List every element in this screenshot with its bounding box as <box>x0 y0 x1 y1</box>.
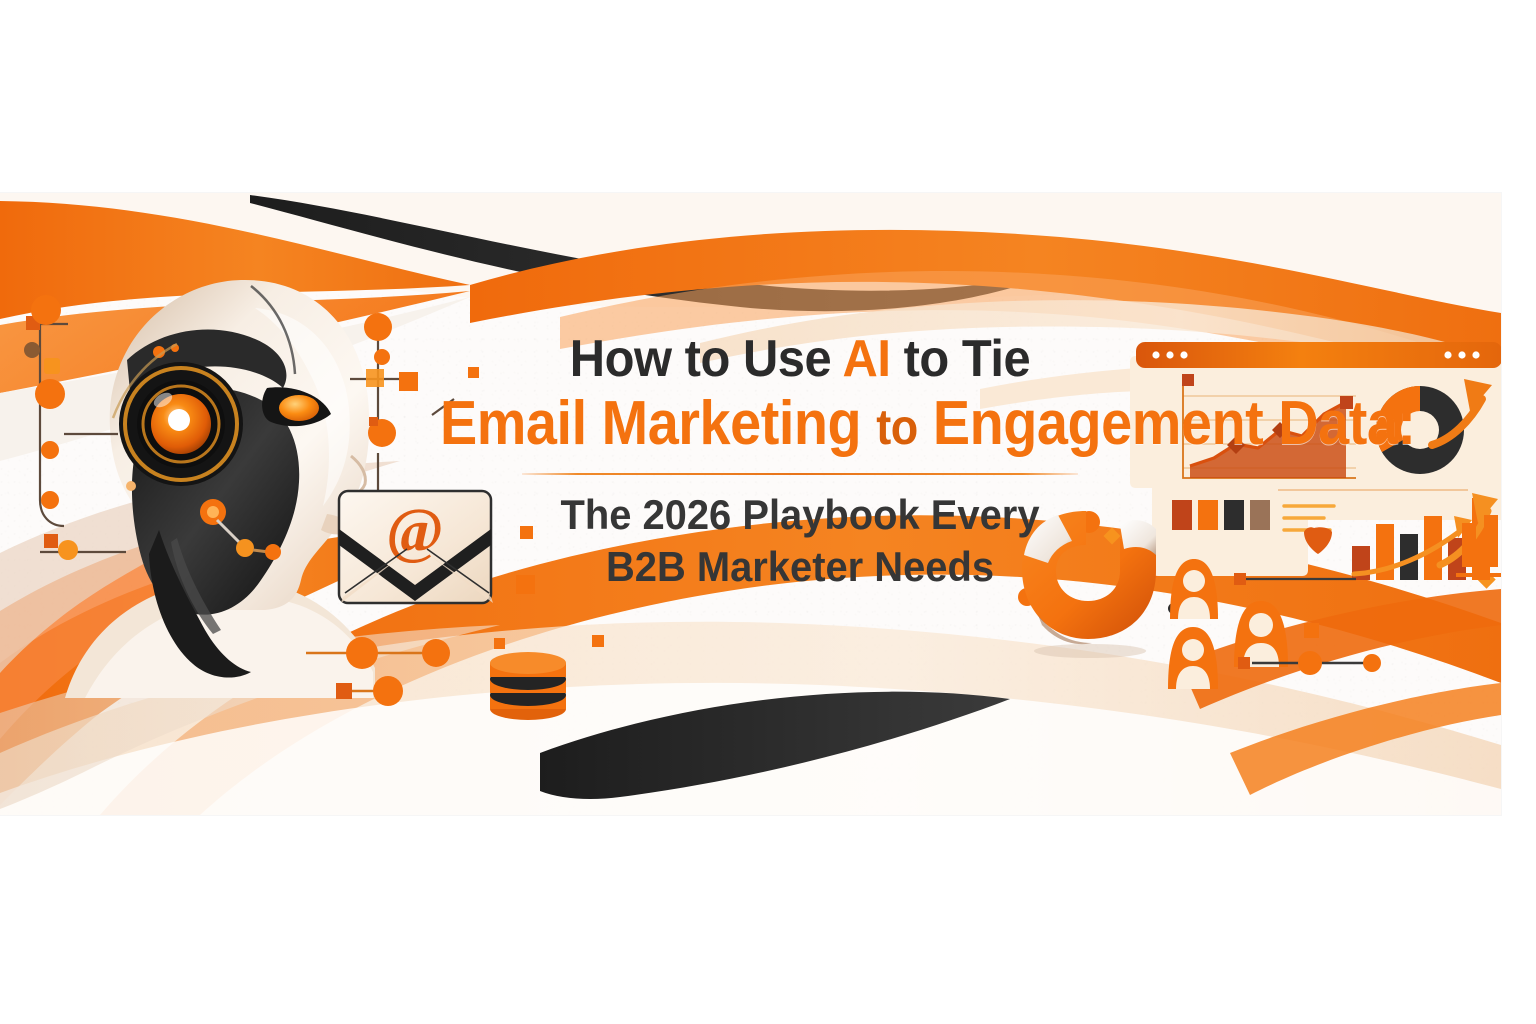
robot-port-node-3 <box>265 544 281 560</box>
robot-port-node-2 <box>236 539 254 557</box>
headline-divider <box>522 473 1078 475</box>
swatch-4 <box>1250 500 1270 530</box>
marketing-banner: @ <box>0 193 1501 815</box>
circuit-r-square-1 <box>366 369 384 387</box>
robot-lens-pupil <box>168 409 190 431</box>
circuit-node-1 <box>31 295 61 325</box>
headline2-part-2: Engagement Data: <box>918 389 1416 458</box>
subtitle-line-2: B2B Marketer Needs <box>420 541 1180 592</box>
circuit-square-3 <box>44 534 58 548</box>
swatch-2 <box>1198 500 1218 530</box>
headline-line-2: Email Marketing to Engagement Data: <box>440 392 1160 455</box>
circuit-node-network-left <box>6 288 136 588</box>
circuit-node-2 <box>24 342 40 358</box>
window-dot-right-2[interactable] <box>1458 351 1465 358</box>
window-dot-right-1[interactable] <box>1444 351 1451 358</box>
accent-square-9 <box>1304 623 1319 638</box>
headline-part-2: to Tie <box>890 330 1030 388</box>
circuit-node-5 <box>41 491 59 509</box>
accent-square-7 <box>592 635 604 647</box>
accent-dot-1 <box>374 349 390 365</box>
circuit-node-3 <box>35 379 65 409</box>
robot-port-core <box>207 506 219 518</box>
circuit-square-2 <box>44 358 60 374</box>
headline-part-1: How to Use <box>570 330 843 388</box>
headline-line-1: How to Use AI to Tie <box>424 333 1176 386</box>
banner-text-block: How to Use AI to Tie Email Marketing to … <box>400 333 1200 592</box>
screenshot-canvas: @ <box>0 0 1536 1024</box>
circuit-b-node-1 <box>346 637 378 669</box>
circuit-r-node-1 <box>364 313 392 341</box>
circuit-node-4 <box>41 441 59 459</box>
circuit-b-node-3 <box>373 676 403 706</box>
robot-eye-glow <box>279 395 319 421</box>
circuit-node-6 <box>58 540 78 560</box>
headline-accent-ai: AI <box>843 330 891 388</box>
headline2-part-1: Email Marketing <box>440 389 876 458</box>
db-top-cap <box>490 652 566 674</box>
swatch-3 <box>1224 500 1244 530</box>
audience-avatar-2 <box>1232 599 1290 667</box>
subtitle-line-1: The 2026 Playbook Every <box>420 489 1180 540</box>
magnet-shadow <box>1034 644 1146 658</box>
accent-square-3 <box>369 417 378 426</box>
circuit-b-square-1 <box>336 683 352 699</box>
shield-icon <box>1304 527 1332 554</box>
circuit-b-node-2 <box>422 639 450 667</box>
window-dot-right-3[interactable] <box>1472 351 1479 358</box>
headline2-small-word: to <box>876 399 918 455</box>
audience-avatar-3 <box>1166 625 1220 689</box>
database-stack-icon <box>478 641 578 726</box>
